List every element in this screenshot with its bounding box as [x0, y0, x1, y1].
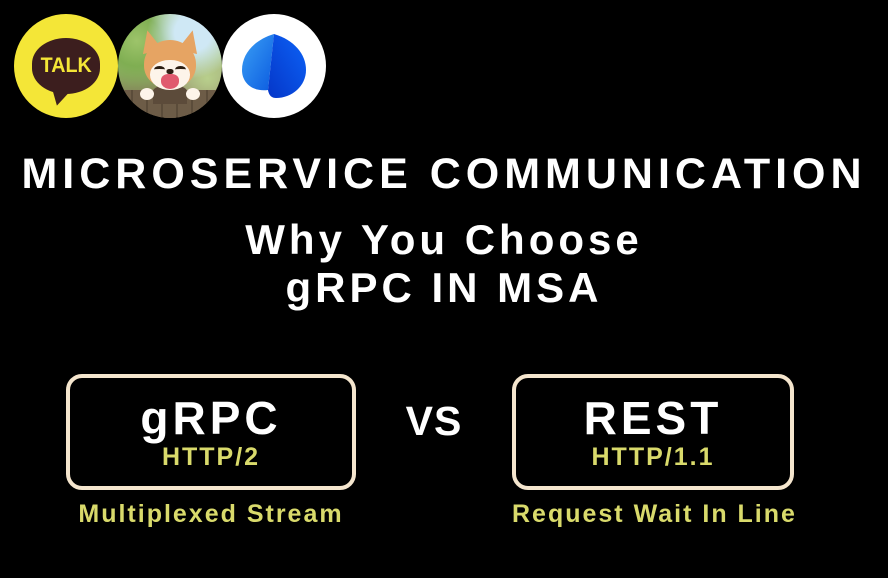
kakaotalk-label: TALK	[40, 54, 91, 78]
speech-bubble-icon: TALK	[32, 38, 100, 94]
grpc-caption: Multiplexed Stream	[66, 500, 356, 529]
dog-eye-right	[175, 66, 186, 73]
dog-mouth	[161, 74, 179, 89]
dog-photo-avatar	[118, 14, 222, 118]
kakaotalk-logo-icon: TALK	[14, 14, 118, 118]
page-title: MICROSERVICE COMMUNICATION	[0, 152, 888, 197]
blue-leaf-glyph	[236, 28, 312, 104]
avatar-row: TALK	[14, 14, 326, 118]
dog-paw-left	[140, 88, 154, 100]
versus-label: VS	[356, 398, 512, 445]
subtitle-line-1: Why You Choose	[0, 216, 888, 264]
grpc-protocol-label: HTTP/2	[162, 445, 260, 470]
slide-root: TALK	[0, 0, 888, 578]
dog-eye-left	[154, 66, 165, 73]
grpc-title: gRPC	[140, 395, 281, 441]
rest-protocol-label: HTTP/1.1	[592, 445, 715, 470]
rest-title: REST	[584, 395, 723, 441]
comparison-card-grpc: gRPC HTTP/2	[66, 374, 356, 490]
blue-app-logo-icon	[222, 14, 326, 118]
comparison-card-rest: REST HTTP/1.1	[512, 374, 794, 490]
subtitle-line-2: gRPC IN MSA	[0, 264, 888, 312]
rest-caption: Request Wait In Line	[512, 500, 794, 529]
dog-paw-right	[186, 88, 200, 100]
